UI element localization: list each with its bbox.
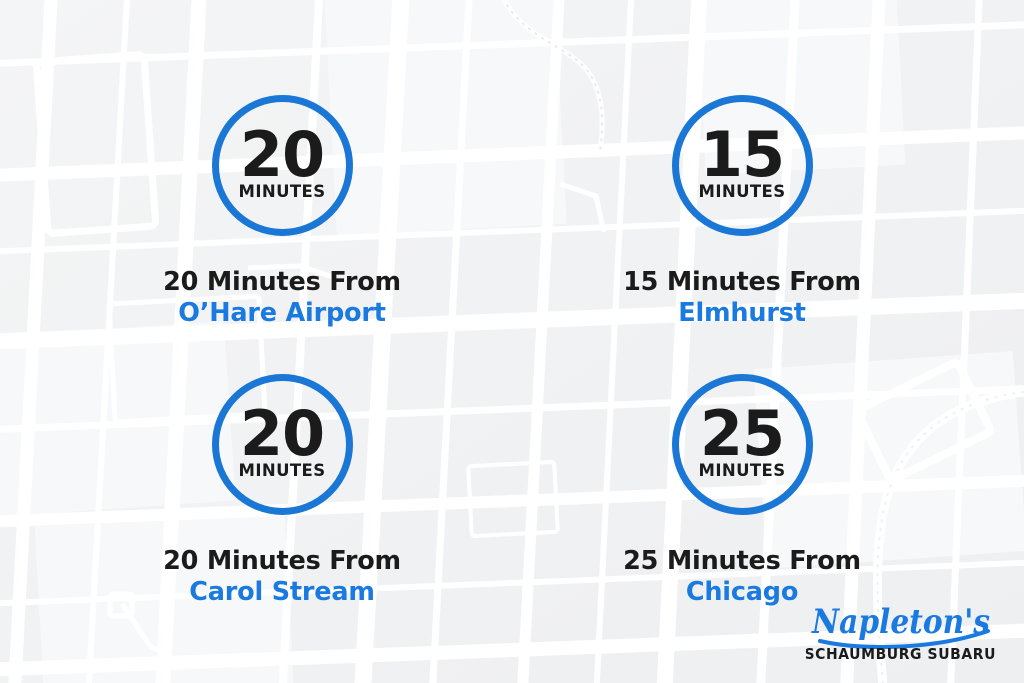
caption-location: O’Hare Airport <box>163 298 401 329</box>
logo-subtitle-text: SCHAUMBURG SUBARU <box>806 645 996 663</box>
minutes-badge: 20 MINUTES <box>212 374 353 515</box>
badge-number: 20 <box>240 128 324 183</box>
promo-graphic: 20 MINUTES 20 Minutes From O’Hare Airpor… <box>0 0 1024 683</box>
distance-card: 15 MINUTES 15 Minutes From Elmhurst <box>512 0 972 342</box>
caption-primary: 20 Minutes From <box>163 546 401 577</box>
badge-unit-label: MINUTES <box>239 463 326 480</box>
minutes-badge: 25 MINUTES <box>672 374 813 515</box>
dealer-logo[interactable]: Napleton's SCHAUMBURG SUBARU <box>806 597 1002 665</box>
caption-location: Elmhurst <box>623 298 861 329</box>
minutes-badge: 15 MINUTES <box>672 95 813 236</box>
badge-number: 20 <box>240 407 324 462</box>
distance-card: 20 MINUTES 20 Minutes From Carol Stream <box>52 342 512 683</box>
badge-unit-label: MINUTES <box>239 184 326 201</box>
caption-primary: 20 Minutes From <box>163 267 401 298</box>
card-caption: 20 Minutes From O’Hare Airport <box>163 267 401 329</box>
logo-script-text: Napleton's <box>811 602 990 642</box>
badge-number: 25 <box>700 407 784 462</box>
badge-number: 15 <box>700 128 784 183</box>
distance-card-grid: 20 MINUTES 20 Minutes From O’Hare Airpor… <box>0 0 1024 683</box>
minutes-badge: 20 MINUTES <box>212 95 353 236</box>
badge-unit-label: MINUTES <box>699 463 786 480</box>
caption-location: Carol Stream <box>163 577 401 608</box>
card-caption: 20 Minutes From Carol Stream <box>163 546 401 608</box>
distance-card: 20 MINUTES 20 Minutes From O’Hare Airpor… <box>52 0 512 342</box>
caption-primary: 15 Minutes From <box>623 267 861 298</box>
badge-unit-label: MINUTES <box>699 184 786 201</box>
card-caption: 15 Minutes From Elmhurst <box>623 267 861 329</box>
caption-primary: 25 Minutes From <box>623 546 861 577</box>
